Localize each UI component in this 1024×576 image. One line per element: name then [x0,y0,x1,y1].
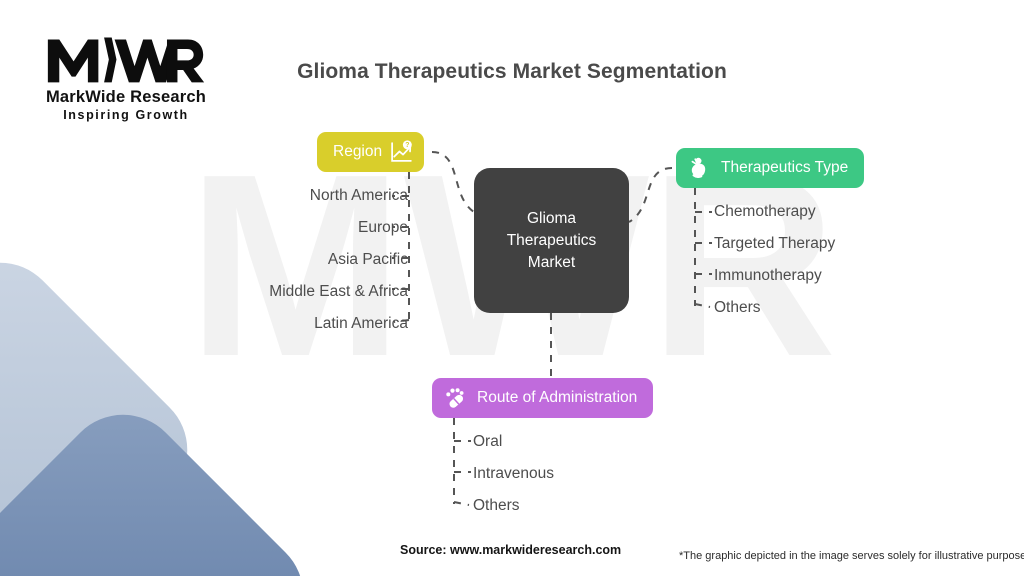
list-item[interactable]: Middle East & Africa [140,284,408,300]
page-title: Glioma Therapeutics Market Segmentation [0,60,1024,84]
list-item[interactable]: Intravenous [473,466,554,482]
growth-chart-question-icon: ? [389,140,414,165]
list-item[interactable]: Oral [473,434,554,450]
branch-badge-region[interactable]: Region ? [317,132,424,172]
list-item[interactable]: Targeted Therapy [714,236,835,252]
list-item[interactable]: North America [140,188,408,204]
brand-name: MarkWide Research [26,88,226,107]
list-item[interactable]: Latin America [140,316,408,332]
footer-disclaimer: *The graphic depicted in the image serve… [679,550,1024,562]
infographic-canvas: MWR MarkWide Research Inspiring Growth G… [0,0,1024,576]
list-item[interactable]: Others [473,498,554,514]
list-item[interactable]: Chemotherapy [714,204,835,220]
pills-capsule-icon [444,386,468,410]
center-node-label: Glioma Therapeutics Market [507,208,597,274]
brand-tagline: Inspiring Growth [26,108,226,122]
center-node[interactable]: Glioma Therapeutics Market [474,168,629,313]
decorative-shape-dark [0,390,328,576]
branch-badge-route-of-administration[interactable]: Route of Administration [432,378,653,418]
branch-badge-therapeutics-type[interactable]: Therapeutics Type [676,148,864,188]
branch-badge-region-label: Region [333,143,382,161]
footer-source[interactable]: Source: www.markwideresearch.com [400,543,621,557]
branch-items-region: North America Europe Asia Pacific Middle… [140,188,408,348]
svg-text:?: ? [405,142,409,149]
branch-items-route-of-administration: Oral Intravenous Others [473,434,554,530]
list-item[interactable]: Europe [140,220,408,236]
branch-items-therapeutics-type: Chemotherapy Targeted Therapy Immunother… [714,204,835,332]
list-item[interactable]: Others [714,300,835,316]
list-item[interactable]: Immunotherapy [714,268,835,284]
branch-badge-route-of-administration-label: Route of Administration [477,389,637,407]
branch-badge-therapeutics-type-label: Therapeutics Type [721,159,848,177]
hand-holding-pill-icon [688,156,712,180]
list-item[interactable]: Asia Pacific [140,252,408,268]
